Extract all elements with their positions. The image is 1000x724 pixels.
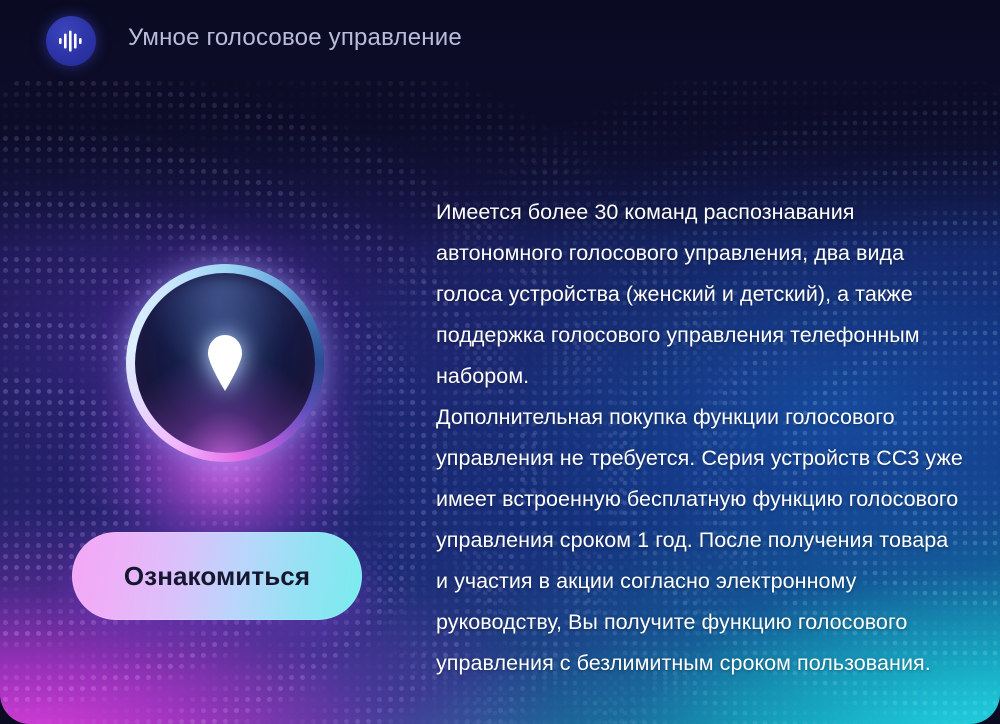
learn-more-button[interactable]: Ознакомиться bbox=[72, 532, 362, 620]
page-title: Умное голосовое управление bbox=[128, 24, 462, 52]
description-paragraph-2: Дополнительная покупка функции голосовог… bbox=[436, 397, 964, 684]
header-bar: Умное голосовое управление bbox=[0, 0, 1000, 82]
description-text-block: Имеется более 30 команд распознавания ав… bbox=[436, 192, 964, 684]
promo-card: Ознакомиться Имеется более 30 команд рас… bbox=[0, 78, 1000, 724]
description-paragraph-1: Имеется более 30 команд распознавания ав… bbox=[436, 192, 964, 397]
voice-assistant-orb[interactable] bbox=[126, 264, 324, 462]
voice-waveform-icon[interactable] bbox=[46, 16, 96, 66]
voice-control-promo-screen: Ознакомиться Имеется более 30 команд рас… bbox=[0, 0, 1000, 724]
voice-pin-icon bbox=[202, 333, 248, 393]
